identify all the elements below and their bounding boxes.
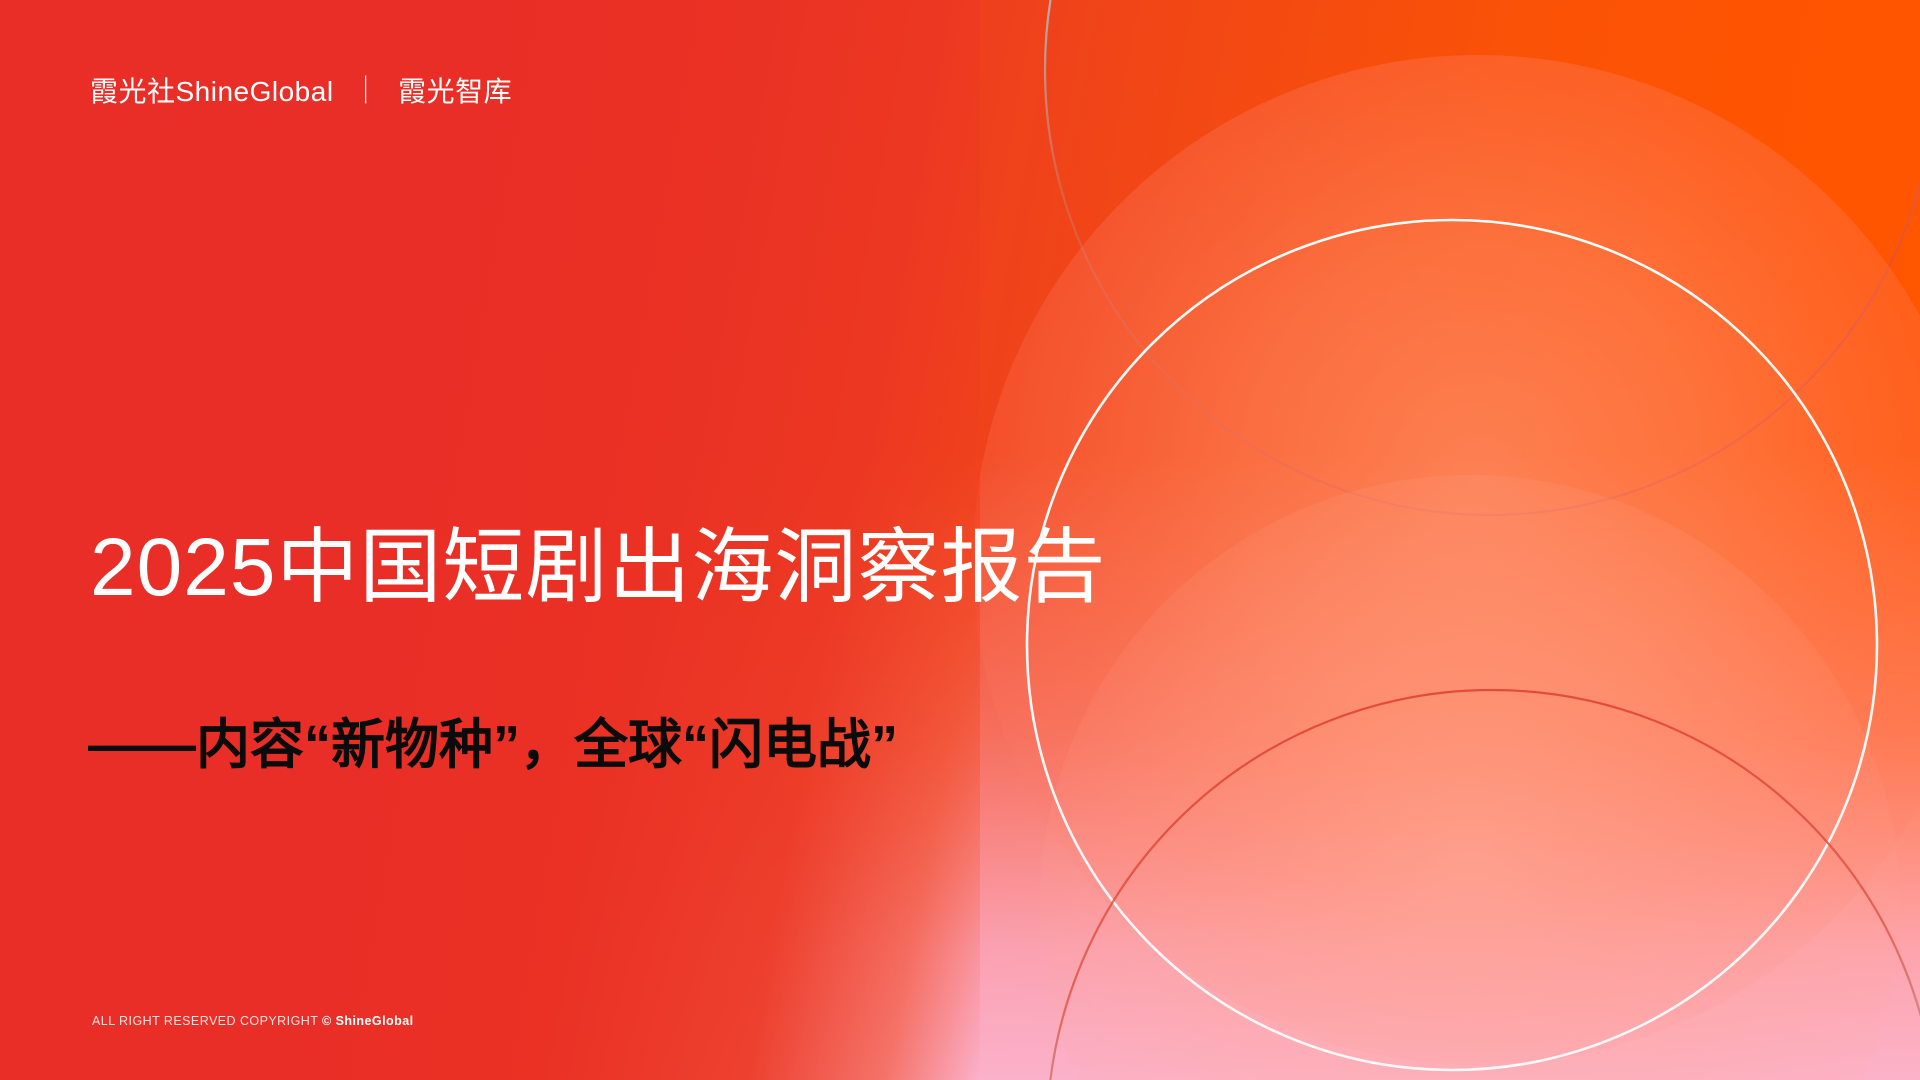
copyright-icon: © (322, 1014, 332, 1028)
brand-separator: ｜ (352, 69, 381, 109)
footer-prefix: ALL RIGHT RESERVED COPYRIGHT (92, 1014, 318, 1028)
report-cover-slide: 霞光社ShineGlobal ｜ 霞光智库 2025中国短剧出海洞察报告 ——内… (0, 0, 1920, 1080)
center-gradient-sphere (973, 55, 1920, 1065)
bottom-outline-circle (1047, 690, 1920, 1080)
lower-gradient-sphere (1040, 475, 1900, 1080)
page-title: 2025中国短剧出海洞察报告 (90, 525, 1106, 611)
footer-company: ShineGlobal (336, 1014, 414, 1028)
footer-copyright: ALL RIGHT RESERVED COPYRIGHT © ShineGlob… (92, 1014, 414, 1028)
brand-secondary-label: 霞光智库 (398, 70, 512, 110)
top-outline-circle (1045, 0, 1920, 515)
brand-primary-label: 霞光社ShineGlobal (90, 70, 334, 110)
page-subtitle: ——内容“新物种”，全球“闪电战” (88, 713, 898, 778)
brand-lockup: 霞光社ShineGlobal ｜ 霞光智库 (90, 70, 512, 110)
center-outline-circle (1027, 220, 1877, 1070)
